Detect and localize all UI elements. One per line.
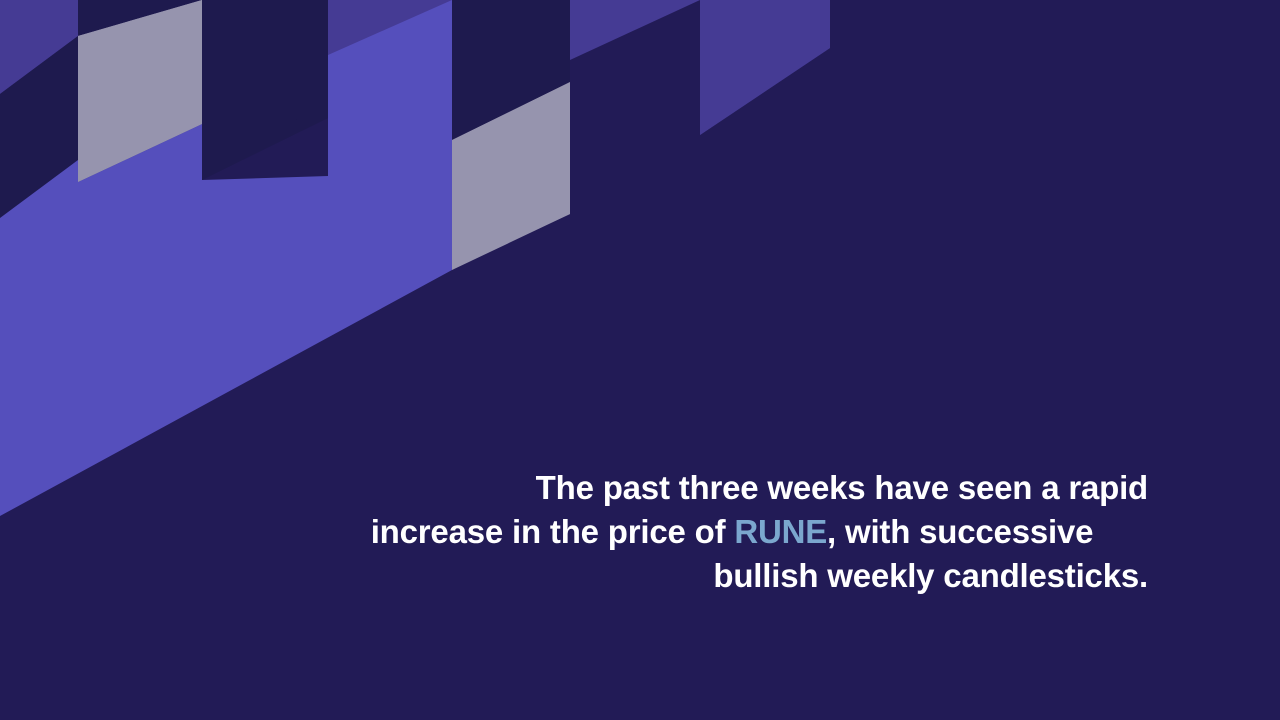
slide-canvas: The past three weeks have seen a rapid i… [0, 0, 1280, 720]
caption-line-3-text: bullish weekly candlesticks. [713, 557, 1148, 594]
parallelogram-r0-c1 [78, 0, 202, 36]
caption-highlight-rune: RUNE [734, 513, 827, 550]
background-rect [0, 0, 1280, 720]
parallelogram-r0-c6-top [700, 0, 830, 135]
parallelogram-r0-c5b [570, 0, 700, 20]
parallelogram-r0-c4 [452, 0, 570, 78]
parallelogram-r0-c5-cap [570, 0, 700, 60]
parallelogram-r1-c3-bright [328, 0, 452, 176]
parallelogram-r1-c1-gray [78, 0, 202, 182]
caption-line-1: The past three weeks have seen a rapid [316, 466, 1148, 510]
parallelogram-r1-c0 [0, 36, 78, 218]
parallelogram-r0-c4-lower [452, 20, 570, 140]
caption-line-3: bullish weekly candlesticks. [316, 554, 1148, 598]
caption-line-2-before: increase in the price of [371, 513, 735, 550]
caption-line-2: increase in the price of RUNE, with succ… [316, 510, 1148, 554]
parallelogram-r1-c1-gray-top [78, 0, 202, 182]
parallelogram-r1-c4-gray [452, 82, 570, 268]
parallelogram-r0-c0 [0, 0, 78, 94]
background-pattern [0, 0, 1280, 720]
caption-line-1-text: The past three weeks have seen a rapid [536, 469, 1148, 506]
parallelogram-r1-c2 [202, 0, 328, 180]
parallelogram-r0-c6 [700, 0, 830, 135]
parallelogram-r0-c5 [570, 0, 700, 20]
parallelogram-r1-c4-gray-top [452, 82, 570, 270]
parallelogram-pattern-svg [0, 0, 1280, 720]
caption-line-2-after: , with successive [827, 513, 1093, 550]
parallelogram-large-bright-purple [0, 0, 452, 516]
parallelogram-r0-c3 [328, 0, 452, 55]
parallelogram-r1-c2-top [202, 0, 328, 124]
parallelogram-r0-c3-cap [328, 0, 452, 55]
caption-block: The past three weeks have seen a rapid i… [316, 466, 1148, 598]
parallelogram-r0-c4-cap [452, 0, 570, 140]
